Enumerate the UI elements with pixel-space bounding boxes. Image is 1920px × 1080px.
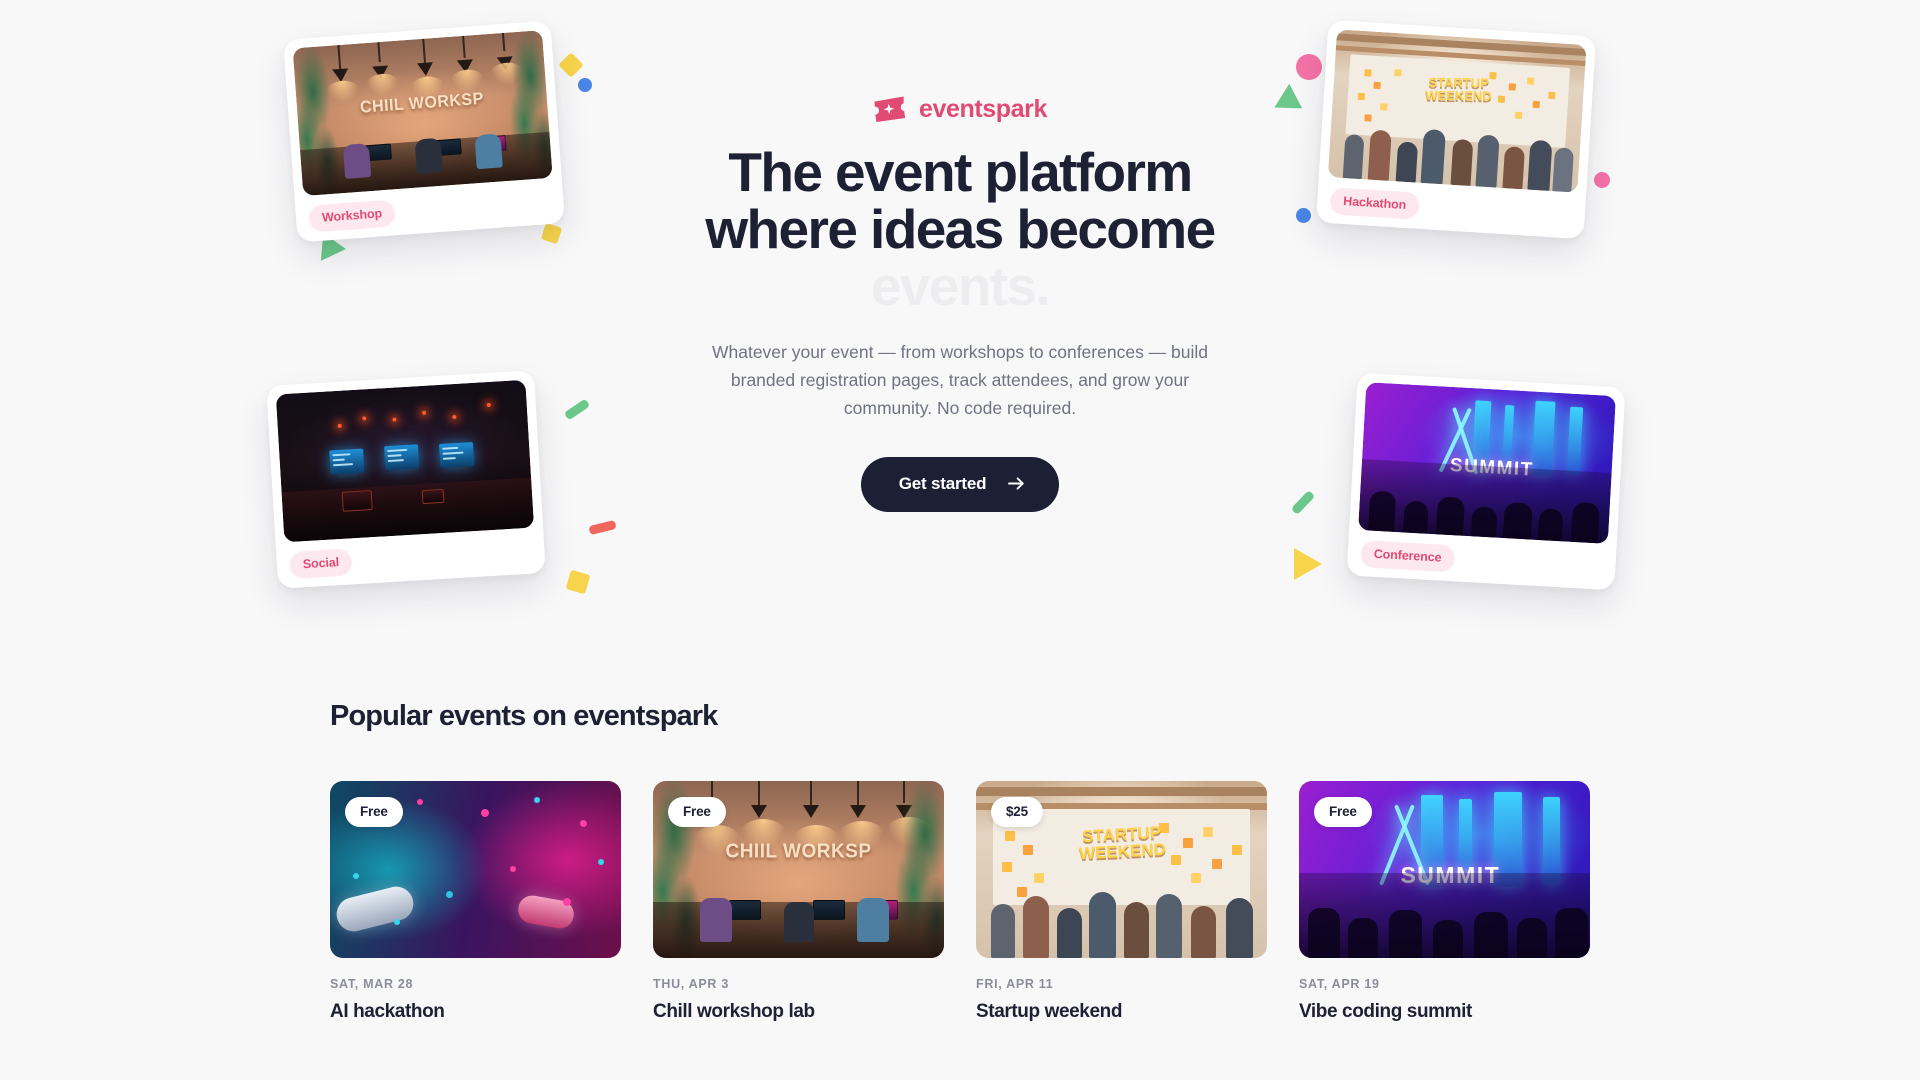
blue-dot-decor-2 bbox=[1296, 208, 1311, 223]
event-photo: $25 bbox=[976, 781, 1267, 958]
event-photo: Free CHIIL WORKSP bbox=[653, 781, 944, 958]
floating-card-hackathon[interactable]: STARTUP WEEKEND bbox=[1316, 20, 1596, 239]
floating-card-conference[interactable]: SUMMIT Conference bbox=[1347, 373, 1626, 591]
floating-card-social[interactable]: Social bbox=[266, 370, 546, 589]
pink-circle-decor-3 bbox=[1594, 172, 1610, 188]
hero-subhead: Whatever your event — from workshops to … bbox=[705, 338, 1215, 423]
photo-wall-sign: STARTUP WEEKEND bbox=[1077, 824, 1166, 863]
headline-line-3: events. bbox=[640, 258, 1280, 315]
headline-line-2: where ideas become bbox=[640, 201, 1280, 258]
yellow-square-decor-1 bbox=[541, 223, 562, 244]
yellow-square-decor-2 bbox=[566, 570, 591, 595]
event-date: SAT, MAR 28 bbox=[330, 977, 621, 991]
hero-content: eventspark The event platform where idea… bbox=[640, 96, 1280, 512]
brand-name: eventspark bbox=[919, 97, 1047, 122]
event-price-badge: Free bbox=[1314, 797, 1372, 827]
popular-events-title: Popular events on eventspark bbox=[330, 700, 1590, 733]
floating-card-badge: Hackathon bbox=[1329, 187, 1420, 220]
popular-events-grid: Free bbox=[330, 781, 1590, 1024]
event-price-badge: $25 bbox=[991, 797, 1043, 827]
floating-card-badge: Conference bbox=[1360, 540, 1455, 572]
floating-card-photo: STARTUP WEEKEND bbox=[1328, 29, 1587, 192]
floating-card-badge: Social bbox=[289, 548, 353, 579]
green-slash-decor-1 bbox=[564, 398, 591, 420]
landing-page: CHIIL WORKSP Workshop bbox=[0, 0, 1920, 1080]
pink-circle-decor-2 bbox=[1296, 54, 1322, 80]
page-title: The event platform where ideas become ev… bbox=[640, 144, 1280, 316]
arrow-right-icon bbox=[1008, 476, 1025, 491]
event-title: Startup weekend bbox=[976, 1000, 1267, 1024]
event-card[interactable]: $25 bbox=[976, 781, 1267, 1024]
event-date: THU, APR 3 bbox=[653, 977, 944, 991]
event-title: Chill workshop lab bbox=[653, 1000, 944, 1024]
event-title: AI hackathon bbox=[330, 1000, 621, 1024]
yellow-triangle-decor bbox=[1294, 548, 1322, 580]
green-slash-decor-2 bbox=[1291, 490, 1316, 515]
floating-card-photo: SUMMIT bbox=[1358, 382, 1616, 544]
floating-card-photo bbox=[276, 380, 534, 543]
floating-card-workshop[interactable]: CHIIL WORKSP Workshop bbox=[283, 20, 565, 242]
ticket-icon bbox=[872, 95, 908, 123]
event-title: Vibe coding summit bbox=[1299, 1000, 1590, 1024]
event-card[interactable]: Free SUMMIT bbox=[1299, 781, 1590, 1024]
headline-line-1: The event platform bbox=[640, 144, 1280, 201]
coral-slash-decor bbox=[588, 520, 616, 535]
photo-wall-sign: CHIIL WORKSP bbox=[725, 840, 871, 863]
yellow-diamond-decor bbox=[558, 52, 583, 77]
brand-logo[interactable]: eventspark bbox=[640, 96, 1280, 122]
photo-wall-sign: STARTUP WEEKEND bbox=[1425, 76, 1492, 103]
event-price-badge: Free bbox=[668, 797, 726, 827]
blue-dot-decor bbox=[578, 78, 592, 92]
hero-section: CHIIL WORKSP Workshop bbox=[0, 0, 1920, 700]
event-card[interactable]: Free bbox=[330, 781, 621, 1024]
event-date: FRI, APR 11 bbox=[976, 977, 1267, 991]
event-price-badge: Free bbox=[345, 797, 403, 827]
get-started-button[interactable]: Get started bbox=[861, 457, 1060, 512]
floating-card-badge: Workshop bbox=[308, 199, 396, 232]
event-card[interactable]: Free CHIIL WORKSP bbox=[653, 781, 944, 1024]
event-date: SAT, APR 19 bbox=[1299, 977, 1590, 991]
popular-events-section: Popular events on eventspark Free bbox=[0, 700, 1920, 1024]
event-photo: Free bbox=[330, 781, 621, 958]
event-photo: Free SUMMIT bbox=[1299, 781, 1590, 958]
get-started-label: Get started bbox=[899, 474, 987, 494]
floating-card-photo: CHIIL WORKSP bbox=[293, 30, 553, 196]
